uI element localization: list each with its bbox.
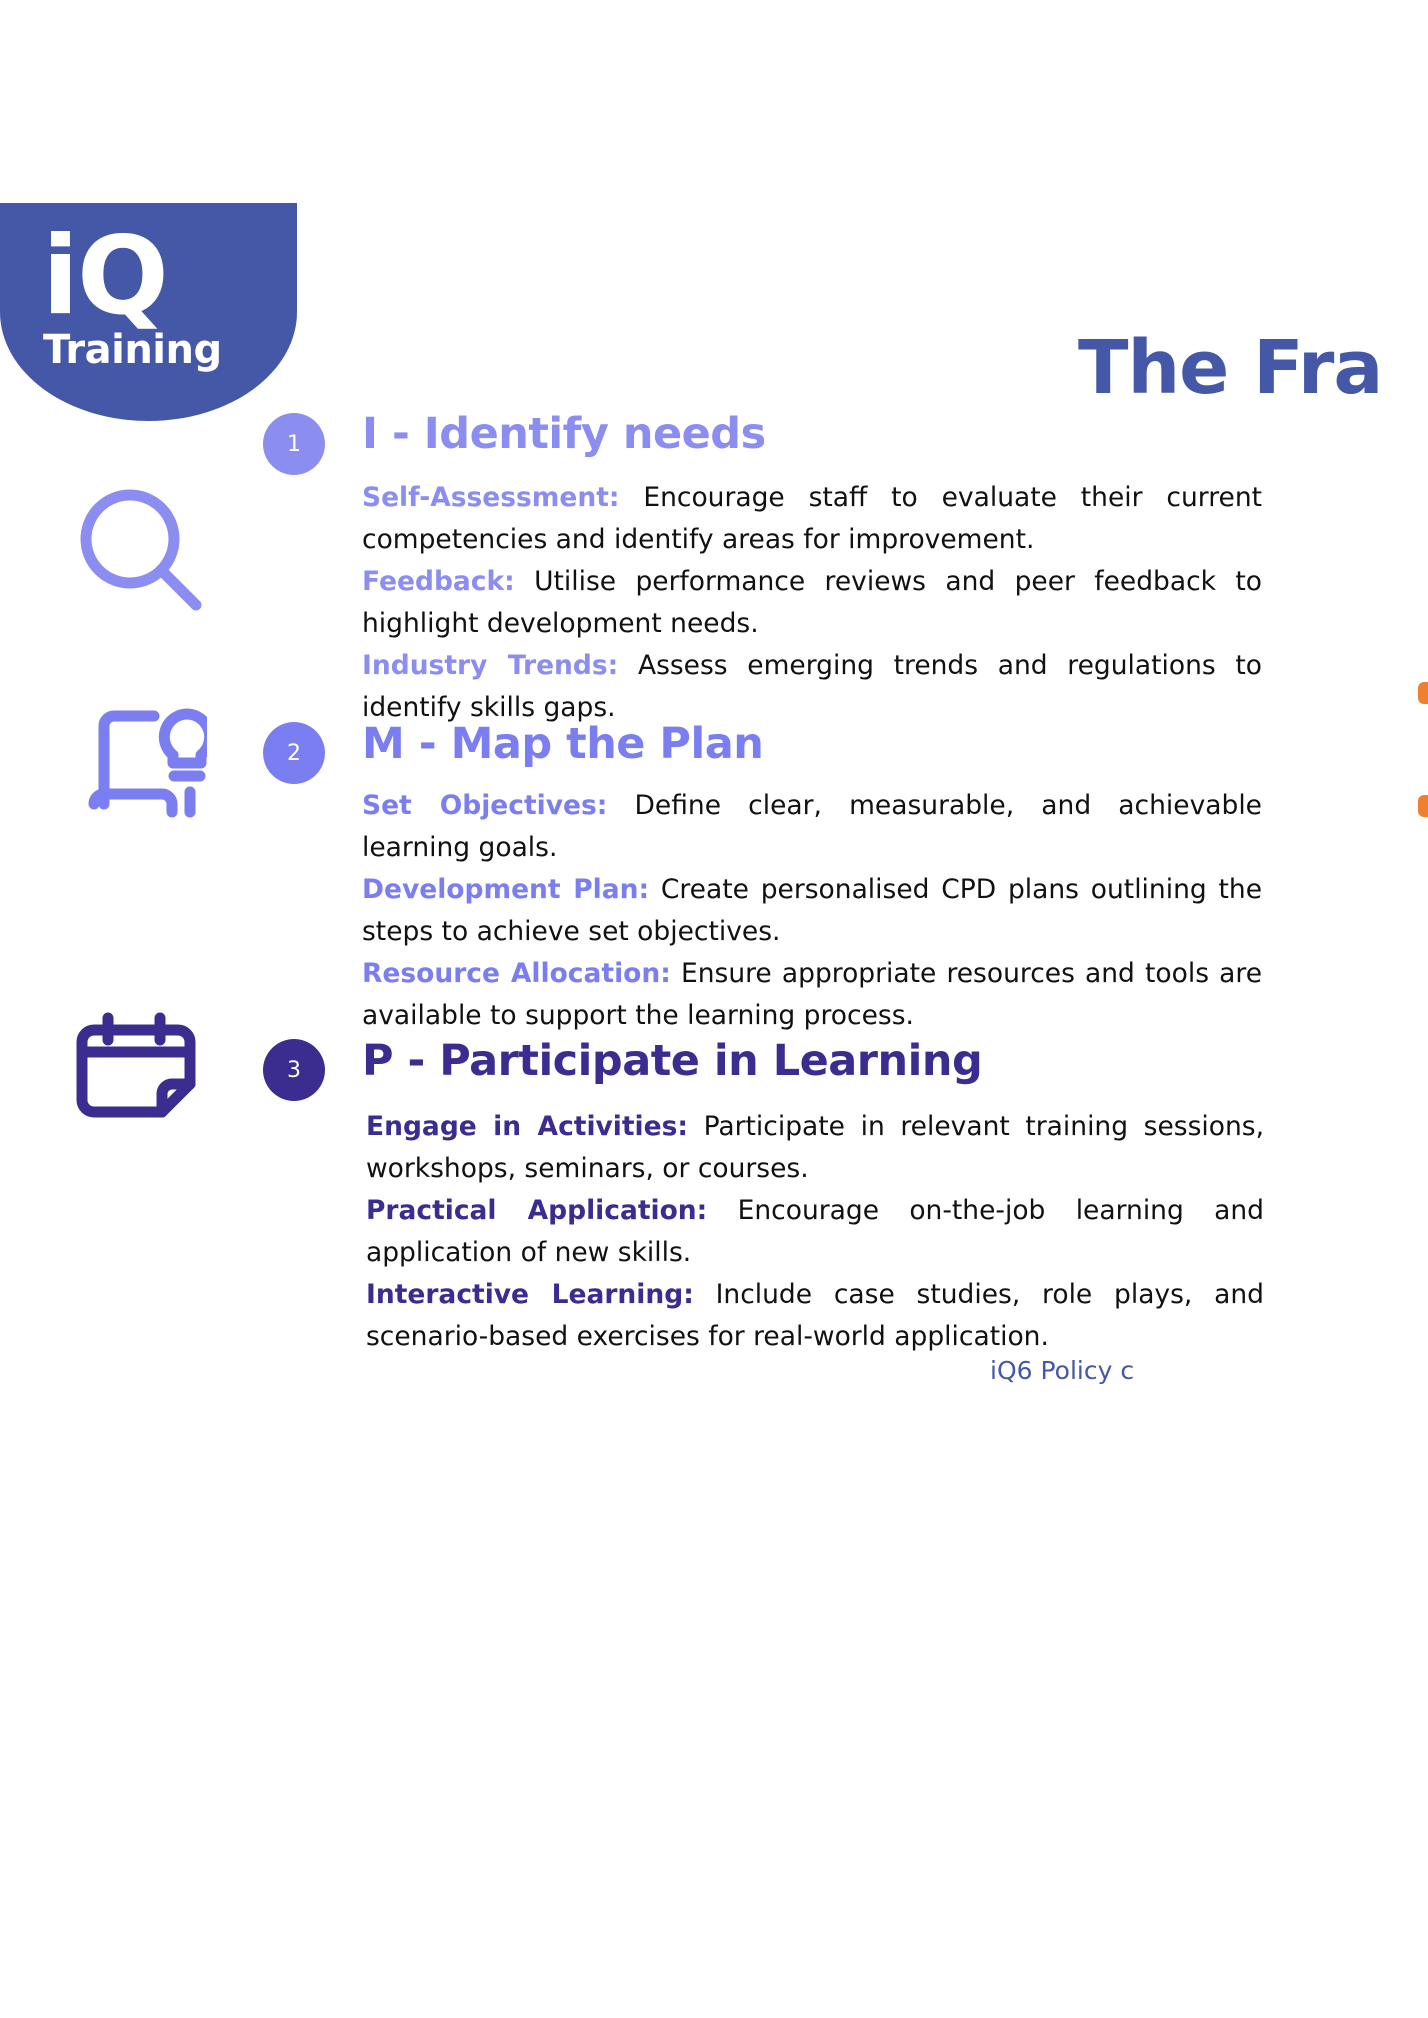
step-number-badge: 1	[263, 413, 325, 475]
step-item: Interactive Learning: Include case studi…	[366, 1274, 1264, 1358]
step-heading: M - Map the Plan	[362, 721, 763, 768]
document-page: iQ Training The Fra 1 I - Identify needs…	[0, 0, 1428, 2018]
step-body: Engage in Activities: Participate in rel…	[366, 1106, 1264, 1358]
footer-note: iQ6 Policy c	[990, 1356, 1134, 1385]
step-item-lead: Practical Application:	[366, 1195, 707, 1226]
edge-accent-mark	[1418, 682, 1428, 704]
step-item-lead: Feedback:	[362, 566, 515, 597]
step-number-badge: 3	[263, 1039, 325, 1101]
step-body: Self-Assessment: Encourage staff to eval…	[362, 477, 1262, 729]
step-item: Set Objectives: Define clear, measurable…	[362, 785, 1262, 869]
edge-accent-mark	[1418, 795, 1428, 817]
page-title: The Fra	[1078, 330, 1382, 408]
step-number-badge: 2	[263, 722, 325, 784]
magnifier-icon	[78, 487, 203, 617]
calendar-icon	[74, 1012, 199, 1127]
step-item: Self-Assessment: Encourage staff to eval…	[362, 477, 1262, 561]
step-item: Development Plan: Create personalised CP…	[362, 869, 1262, 953]
logo-badge: iQ Training	[0, 203, 297, 421]
plan-lightbulb-icon	[82, 700, 207, 830]
step-item: Resource Allocation: Ensure appropriate …	[362, 953, 1262, 1037]
step-item: Engage in Activities: Participate in rel…	[366, 1106, 1264, 1190]
step-item-lead: Development Plan:	[362, 874, 649, 905]
step-item: Practical Application: Encourage on-the-…	[366, 1190, 1264, 1274]
step-item-lead: Industry Trends:	[362, 650, 618, 681]
step-item-lead: Self-Assessment:	[362, 482, 620, 513]
step-item: Industry Trends: Assess emerging trends …	[362, 645, 1262, 729]
step-item-lead: Interactive Learning:	[366, 1279, 694, 1310]
step-heading: I - Identify needs	[362, 411, 766, 458]
step-item-lead: Engage in Activities:	[366, 1111, 688, 1142]
step-heading: P - Participate in Learning	[362, 1038, 982, 1085]
logo-mark: iQ	[42, 223, 167, 331]
step-body: Set Objectives: Define clear, measurable…	[362, 785, 1262, 1037]
logo-wordmark: Training	[43, 330, 222, 370]
step-item-lead: Set Objectives:	[362, 790, 607, 821]
step-item-lead: Resource Allocation:	[362, 958, 671, 989]
step-item: Feedback: Utilise performance reviews an…	[362, 561, 1262, 645]
